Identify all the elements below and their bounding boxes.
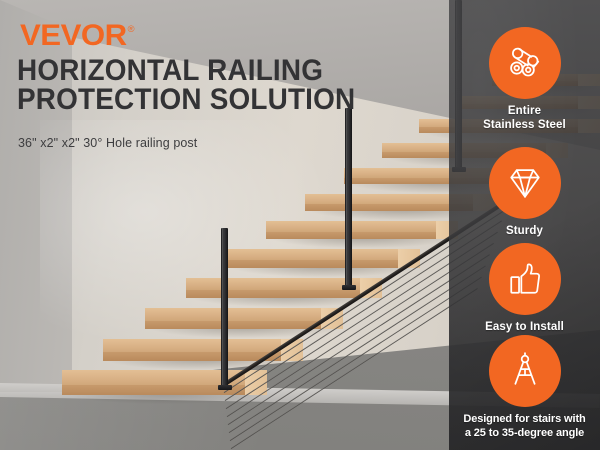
headline-line-1: HORIZONTAL RAILING (17, 56, 355, 85)
railing-post-base (218, 385, 232, 390)
railing-post-base (342, 285, 356, 290)
registered-trademark-icon: ® (128, 24, 134, 34)
vevor-logo: VEVOR® (20, 21, 134, 51)
compass-divider-icon (503, 349, 547, 393)
feature-label-line-2: a 25 to 35-degree angle (465, 427, 584, 439)
feature-label-line-1: Sturdy (506, 225, 543, 237)
product-specs: 36" x2" x2" 30° Hole railing post (18, 136, 197, 150)
headline-line-2: PROTECTION SOLUTION (17, 85, 355, 114)
page-title: HORIZONTAL RAILING PROTECTION SOLUTION (17, 56, 355, 114)
feature-icon-badge (489, 335, 561, 407)
product-banner: VEVOR® HORIZONTAL RAILING PROTECTION SOL… (0, 0, 600, 450)
feature-label: Designed for stairs with a 25 to 35-degr… (449, 413, 600, 440)
feature-label: Sturdy (449, 225, 600, 239)
feature-item-stair-angle: Designed for stairs with a 25 to 35-degr… (449, 335, 600, 440)
feature-label-line-1: Easy to Install (485, 321, 564, 333)
feature-icon-badge (489, 27, 561, 99)
feature-panel: Entire Stainless Steel Sturdy (449, 0, 600, 450)
stacked-tubes-icon (503, 41, 547, 85)
feature-item-stainless-steel: Entire Stainless Steel (449, 27, 600, 132)
feature-label-line-1: Designed for stairs with (463, 413, 585, 425)
railing-post (345, 108, 352, 288)
feature-item-easy-install: Easy to Install (449, 243, 600, 335)
thumbs-up-icon (503, 257, 547, 301)
brand-name: VEVOR (20, 19, 127, 52)
feature-label: Entire Stainless Steel (449, 105, 600, 132)
diamond-icon (503, 161, 547, 205)
feature-label: Easy to Install (449, 321, 600, 335)
feature-label-line-2: Stainless Steel (483, 119, 566, 131)
railing-post (221, 228, 228, 388)
feature-icon-badge (489, 243, 561, 315)
stair-tread (226, 249, 420, 268)
stair-tread (266, 221, 458, 239)
feature-item-sturdy: Sturdy (449, 147, 600, 239)
feature-label-line-1: Entire (508, 105, 541, 117)
feature-icon-badge (489, 147, 561, 219)
